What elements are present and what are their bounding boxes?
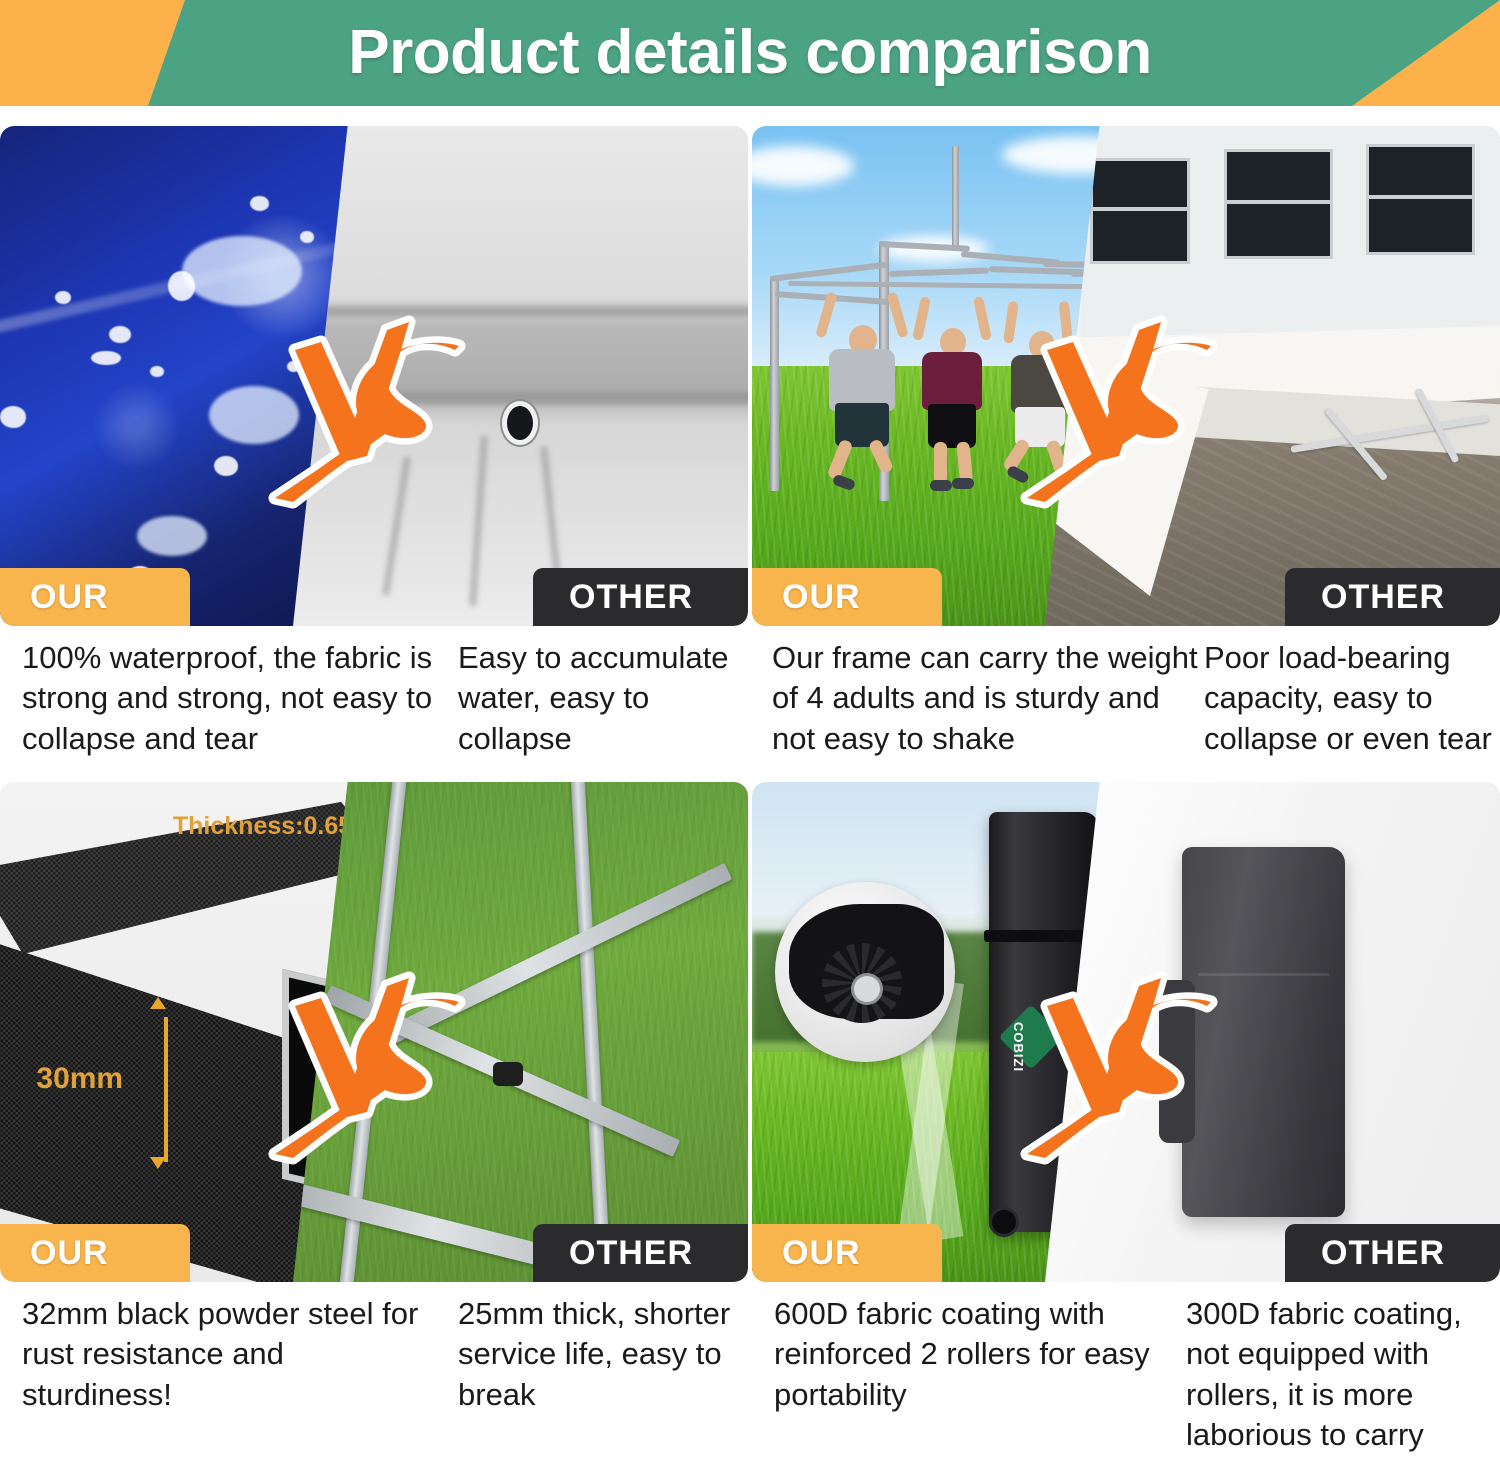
comparison-cell-load-bearing: OUR (752, 126, 1500, 776)
comparison-media: OUR OTHER (0, 126, 748, 626)
other-badge: OTHER (533, 1224, 748, 1282)
caption-row: 32mm black powder steel for rust resista… (0, 1294, 748, 1434)
other-badge: OTHER (533, 568, 748, 626)
our-badge: OUR (0, 1224, 190, 1282)
our-badge: OUR (752, 568, 942, 626)
grey-sagging-fabric-image (293, 126, 748, 626)
caption-row: 600D fabric coating with reinforced 2 ro… (752, 1294, 1500, 1434)
product-comparison-infographic: Product details comparison (0, 0, 1500, 1475)
plain-black-bag-image (1045, 782, 1500, 1282)
comparison-cell-carry-bag: COBIZI OUR (752, 782, 1500, 1432)
our-caption: 32mm black powder steel for rust resista… (22, 1294, 442, 1415)
wheel-zoom-callout (775, 882, 955, 1062)
comparison-media: OUR (752, 126, 1500, 626)
thin-frame-bars-image (293, 782, 748, 1282)
other-caption: 25mm thick, shorter service life, easy t… (458, 1294, 748, 1415)
our-caption: 100% waterproof, the fabric is strong an… (22, 638, 442, 759)
page-title: Product details comparison (0, 0, 1500, 106)
our-badge: OUR (0, 568, 190, 626)
other-badge: OTHER (1285, 1224, 1500, 1282)
other-image-thin-frame: OTHER (293, 782, 748, 1282)
other-badge: OTHER (1285, 568, 1500, 626)
comparison-cell-waterproof: OUR OTHER (0, 126, 748, 776)
comparison-grid: OUR OTHER (0, 106, 1500, 1475)
other-image-load-bearing: OTHER (1045, 126, 1500, 626)
collapsed-canopy-image (1045, 126, 1500, 626)
other-caption: 300D fabric coating, not equipped with r… (1186, 1294, 1500, 1455)
comparison-cell-steel-tube: Thickness:0.65mm 30mm OUR (0, 782, 748, 1432)
other-image-waterproof: OTHER (293, 126, 748, 626)
comparison-media: COBIZI OUR (752, 782, 1500, 1282)
caption-row: 100% waterproof, the fabric is strong an… (0, 638, 748, 778)
header-banner: Product details comparison (0, 0, 1500, 106)
width-annotation: 30mm (36, 1062, 123, 1096)
our-caption: Our frame can carry the weight of 4 adul… (772, 638, 1202, 759)
our-badge: OUR (752, 1224, 942, 1282)
other-image-plain-bag: OTHER (1045, 782, 1500, 1282)
other-caption: Easy to accumulate water, easy to collap… (458, 638, 748, 759)
brand-logo: COBIZI (1011, 1022, 1026, 1072)
comparison-media: Thickness:0.65mm 30mm OUR (0, 782, 748, 1282)
caption-row: Our frame can carry the weight of 4 adul… (752, 638, 1500, 778)
our-caption: 600D fabric coating with reinforced 2 ro… (774, 1294, 1194, 1415)
other-caption: Poor load-bearing capacity, easy to coll… (1204, 638, 1500, 759)
